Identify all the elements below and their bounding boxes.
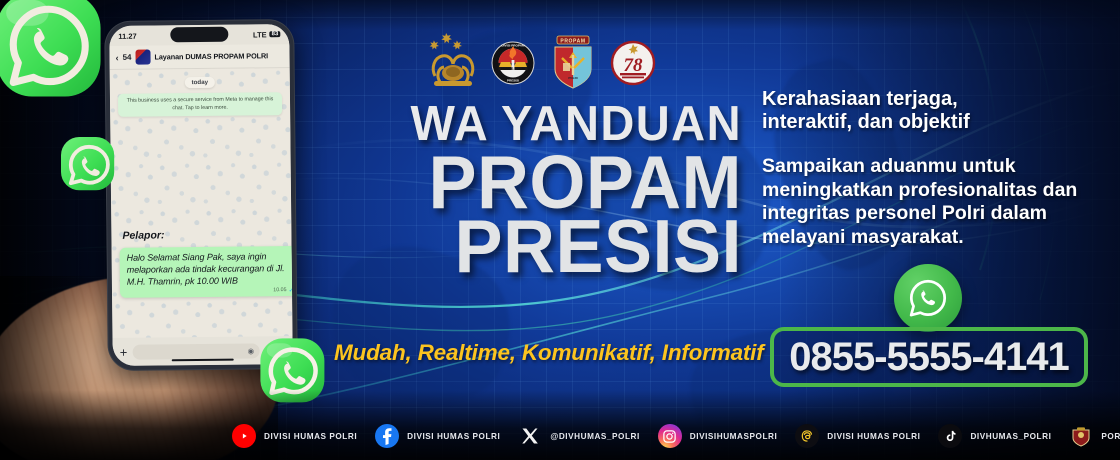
- social-item-youtube[interactable]: DIVISI HUMAS POLRI: [232, 424, 357, 448]
- headline-line-3: PRESISI: [320, 215, 742, 278]
- svg-text:PRESISI: PRESISI: [507, 79, 519, 83]
- chat-message-area: today This business uses a secure servic…: [110, 68, 293, 338]
- back-chevron-icon[interactable]: ‹: [116, 52, 119, 62]
- propam-shield-emblem: PROPAM POLRI: [548, 30, 598, 92]
- instagram-icon: [658, 424, 682, 448]
- svg-text:HUMAS POLRI: HUMAS POLRI: [501, 67, 525, 71]
- x-twitter-icon: [518, 424, 542, 448]
- right-heading: Kerahasiaan terjaga, interaktif, dan obj…: [762, 88, 1092, 134]
- phone-number-box[interactable]: 0855-5555-4141: [770, 327, 1088, 387]
- message-text: Halo Selamat Siang Pak, saya ingin melap…: [127, 251, 293, 289]
- social-label: DIVISI HUMAS POLRI: [407, 432, 500, 441]
- wa-yanduan-propam-banner: HUMAS POLRI DIVISI PROPAM PRESISI PROPAM…: [0, 0, 1120, 460]
- phone-number: 0855-5555-4141: [789, 335, 1069, 380]
- right-body: Sampaikan aduanmu untuk meningkatkan pro…: [762, 155, 1092, 249]
- attach-plus-icon[interactable]: +: [120, 345, 128, 358]
- business-notice[interactable]: This business uses a secure service from…: [118, 92, 282, 117]
- home-indicator: [172, 358, 234, 361]
- social-label: PORTAL HUMAS PRESISI: [1101, 432, 1120, 441]
- contact-name: Layanan DUMAS PROPAM POLRI: [154, 51, 268, 61]
- message-meta: 10.05 ✓: [273, 286, 293, 294]
- polri-tribrata-emblem: [428, 30, 478, 92]
- message-time: 10.05: [273, 287, 286, 293]
- whatsapp-3d-icon-small: [54, 130, 124, 200]
- social-item-threads[interactable]: DIVISI HUMAS POLRI: [795, 424, 920, 448]
- phone-notch: [170, 27, 228, 43]
- anniversary-78-emblem: 78: [608, 30, 658, 92]
- svg-text:POLRI: POLRI: [568, 76, 577, 80]
- svg-text:78: 78: [624, 55, 644, 76]
- message-input[interactable]: ◉: [132, 343, 259, 359]
- emblem-row: HUMAS POLRI DIVISI PROPAM PRESISI PROPAM…: [428, 24, 658, 98]
- youtube-icon: [232, 424, 256, 448]
- threads-icon: [795, 424, 819, 448]
- svg-text:DIVISI PROPAM: DIVISI PROPAM: [501, 44, 525, 48]
- social-label: @DIVHUMAS_POLRI: [550, 432, 639, 441]
- social-label: DIVISIHUMASPOLRI: [690, 432, 778, 441]
- social-label: DIVHUMAS_POLRI: [970, 432, 1051, 441]
- tiktok-icon: [938, 424, 962, 448]
- whatsapp-3d-icon-large: [0, 0, 110, 106]
- social-item-tiktok[interactable]: DIVHUMAS_POLRI: [938, 424, 1051, 448]
- polri-badge-icon: [1069, 424, 1093, 448]
- svg-text:PROPAM: PROPAM: [560, 38, 585, 44]
- chat-header: ‹ 54 Layanan DUMAS PROPAM POLRI: [109, 44, 289, 70]
- unread-count: 54: [123, 53, 132, 62]
- social-item-portal[interactable]: PORTAL HUMAS PRESISI: [1069, 424, 1120, 448]
- read-receipt-icon: ✓: [289, 286, 293, 294]
- smartphone-mockup: 11.27 LTE 83 ‹ 54 Layanan DUMAS PROPAM P…: [104, 19, 298, 371]
- facebook-icon: [375, 424, 399, 448]
- pelapor-label: Pelapor:: [122, 229, 164, 241]
- phone-screen: 11.27 LTE 83 ‹ 54 Layanan DUMAS PROPAM P…: [109, 24, 293, 366]
- outgoing-message-bubble: Halo Selamat Siang Pak, saya ingin melap…: [120, 246, 293, 298]
- day-divider: today: [184, 77, 215, 88]
- social-label: DIVISI HUMAS POLRI: [827, 432, 920, 441]
- right-copy-block: Kerahasiaan terjaga, interaktif, dan obj…: [762, 88, 1092, 249]
- headline-block: WA YANDUAN PROPAM PRESISI: [302, 102, 742, 278]
- whatsapp-cta-icon[interactable]: [894, 264, 962, 332]
- social-item-facebook[interactable]: DIVISI HUMAS POLRI: [375, 424, 500, 448]
- social-item-instagram[interactable]: DIVISIHUMASPOLRI: [658, 424, 778, 448]
- social-label: DIVISI HUMAS POLRI: [264, 432, 357, 441]
- status-network: LTE: [253, 30, 267, 39]
- tagline: Mudah, Realtime, Komunikatif, Informatif: [334, 340, 764, 366]
- status-time: 11.27: [118, 31, 136, 40]
- social-item-x[interactable]: @DIVHUMAS_POLRI: [518, 424, 639, 448]
- contact-avatar[interactable]: [135, 50, 150, 65]
- social-media-bar: DIVISI HUMAS POLRI DIVISI HUMAS POLRI @D…: [0, 412, 1120, 460]
- divisi-propam-emblem: HUMAS POLRI DIVISI PROPAM PRESISI: [488, 30, 538, 92]
- phone-status-bar: 11.27 LTE 83: [109, 24, 289, 46]
- status-battery: 83: [270, 31, 281, 37]
